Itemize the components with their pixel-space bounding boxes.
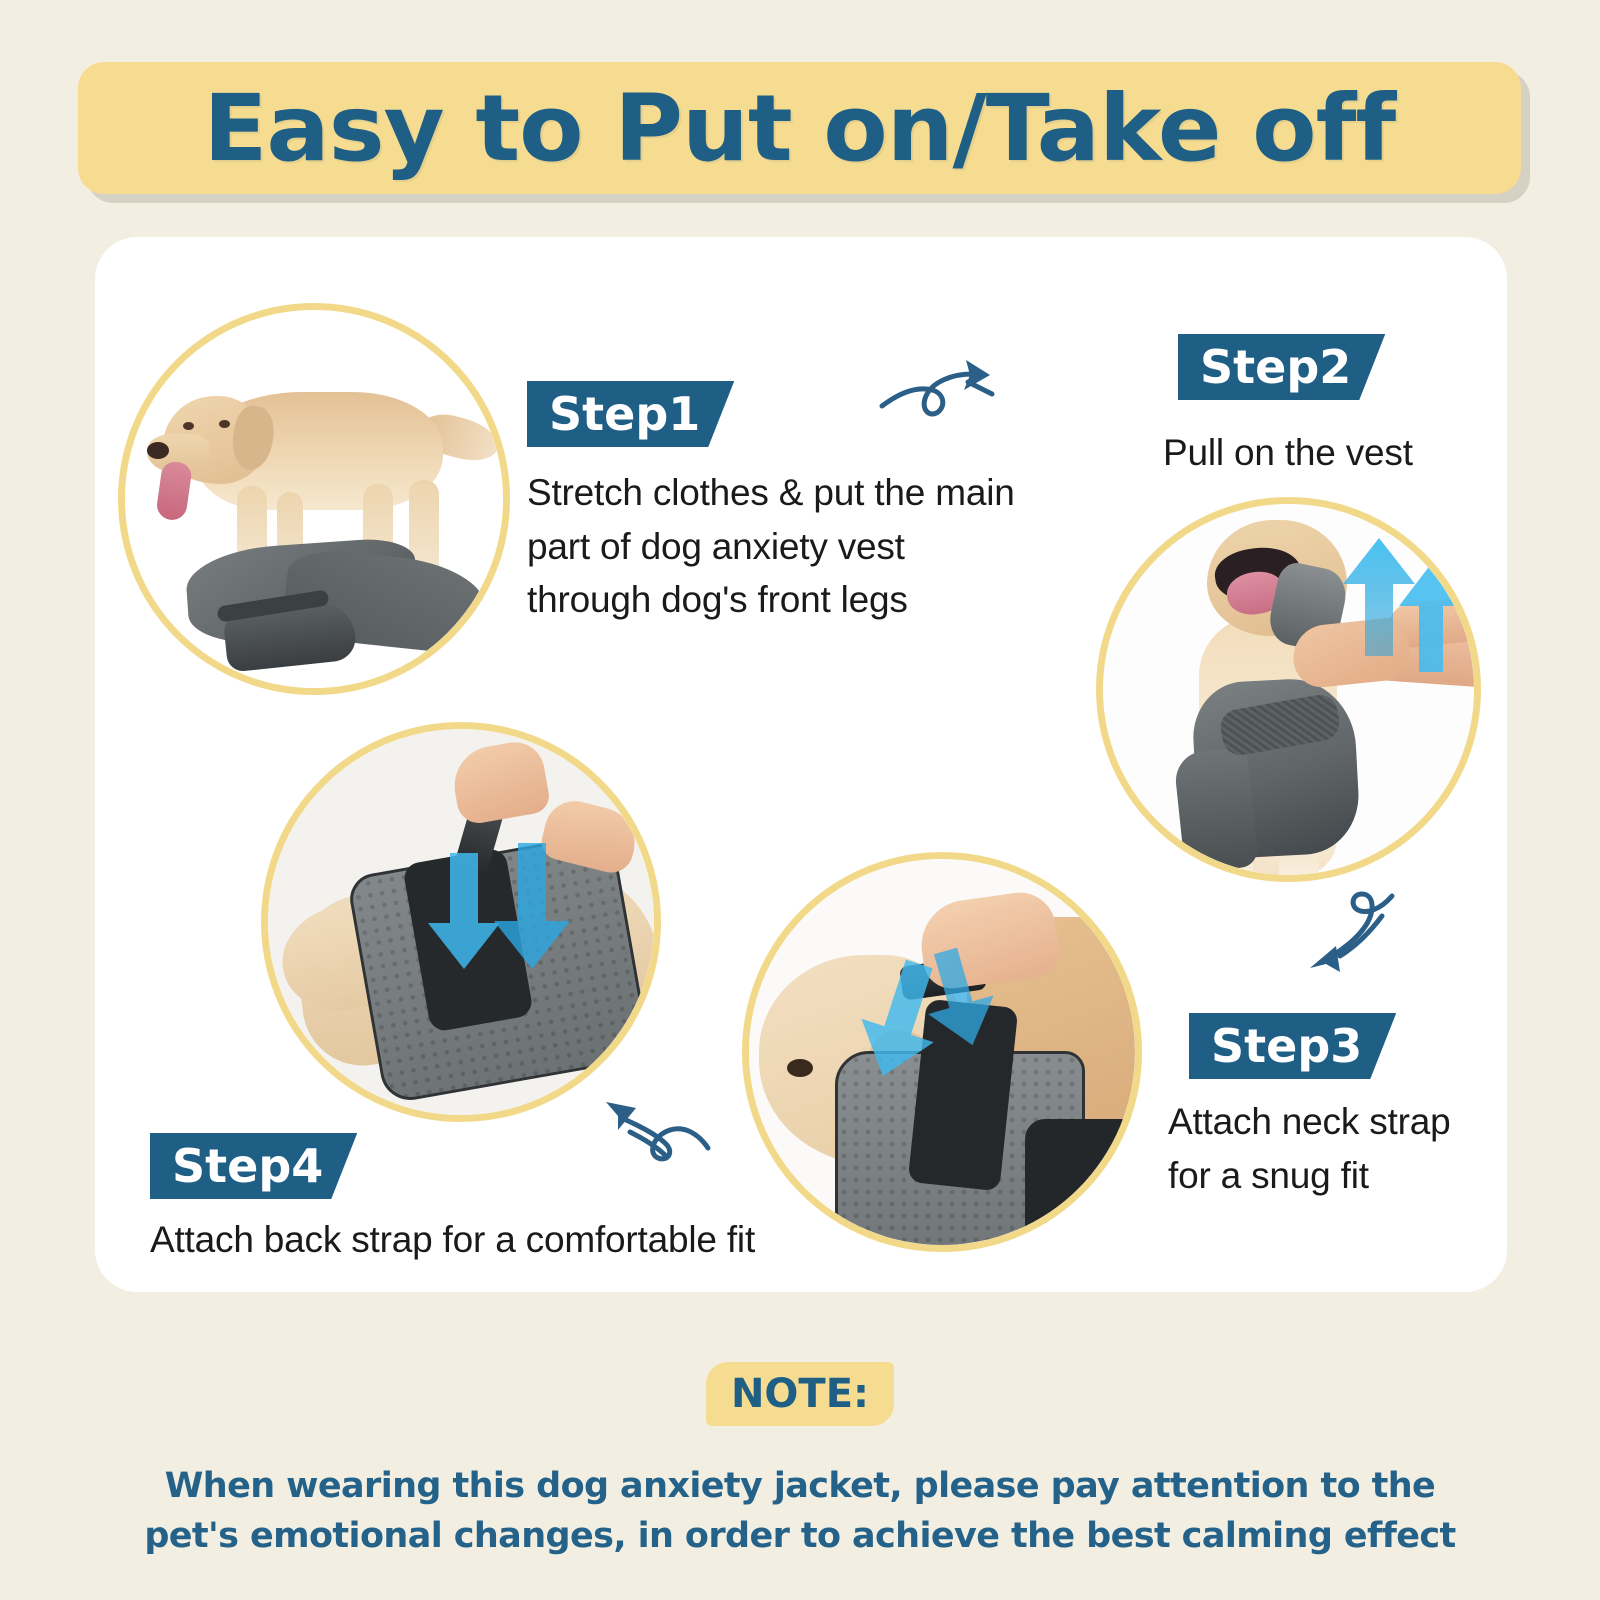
page-title: Easy to Put on/Take off: [204, 75, 1396, 182]
step-3-description: Attach neck strap for a snug fit: [1168, 1095, 1498, 1202]
curly-arrow-up-left-icon: [596, 1092, 716, 1178]
curly-arrow-down-left-icon: [1296, 884, 1406, 984]
curly-arrow-right-icon: [872, 352, 998, 432]
step-3-badge: Step3: [1189, 1013, 1396, 1079]
step-4-description: Attach back strap for a comfortable fit: [150, 1213, 870, 1267]
step-4-photo: [261, 722, 661, 1122]
step-3-image: [749, 859, 1135, 1245]
note-badge: NOTE:: [706, 1362, 894, 1426]
step-1-image: [125, 310, 503, 688]
scene-attach-back-strap: [268, 729, 654, 1115]
step-4-image: [268, 729, 654, 1115]
step-2-photo: [1096, 497, 1481, 882]
blue-up-arrow-icon-2: [1393, 556, 1474, 676]
scene-dog-over-vest: [125, 310, 503, 688]
step-2-badge: Step2: [1178, 334, 1385, 400]
note-label: NOTE:: [731, 1371, 869, 1417]
blue-arrow-down-right-icon: [917, 945, 1027, 1055]
scene-pull-on-vest: [1103, 504, 1474, 875]
step-1-description: Stretch clothes & put the main part of d…: [527, 466, 1107, 627]
step-1-photo: [118, 303, 510, 695]
step-2-image: [1103, 504, 1474, 875]
step-2-description: Pull on the vest: [1163, 426, 1523, 480]
header-banner: Easy to Put on/Take off: [78, 62, 1521, 194]
scene-attach-neck-strap: [749, 859, 1135, 1245]
blue-down-arrow-icon-2: [486, 837, 606, 977]
step-1-badge: Step1: [527, 381, 734, 447]
note-body: When wearing this dog anxiety jacket, pl…: [140, 1462, 1460, 1561]
step-3-photo: [742, 852, 1142, 1252]
step-4-badge: Step4: [150, 1133, 357, 1199]
